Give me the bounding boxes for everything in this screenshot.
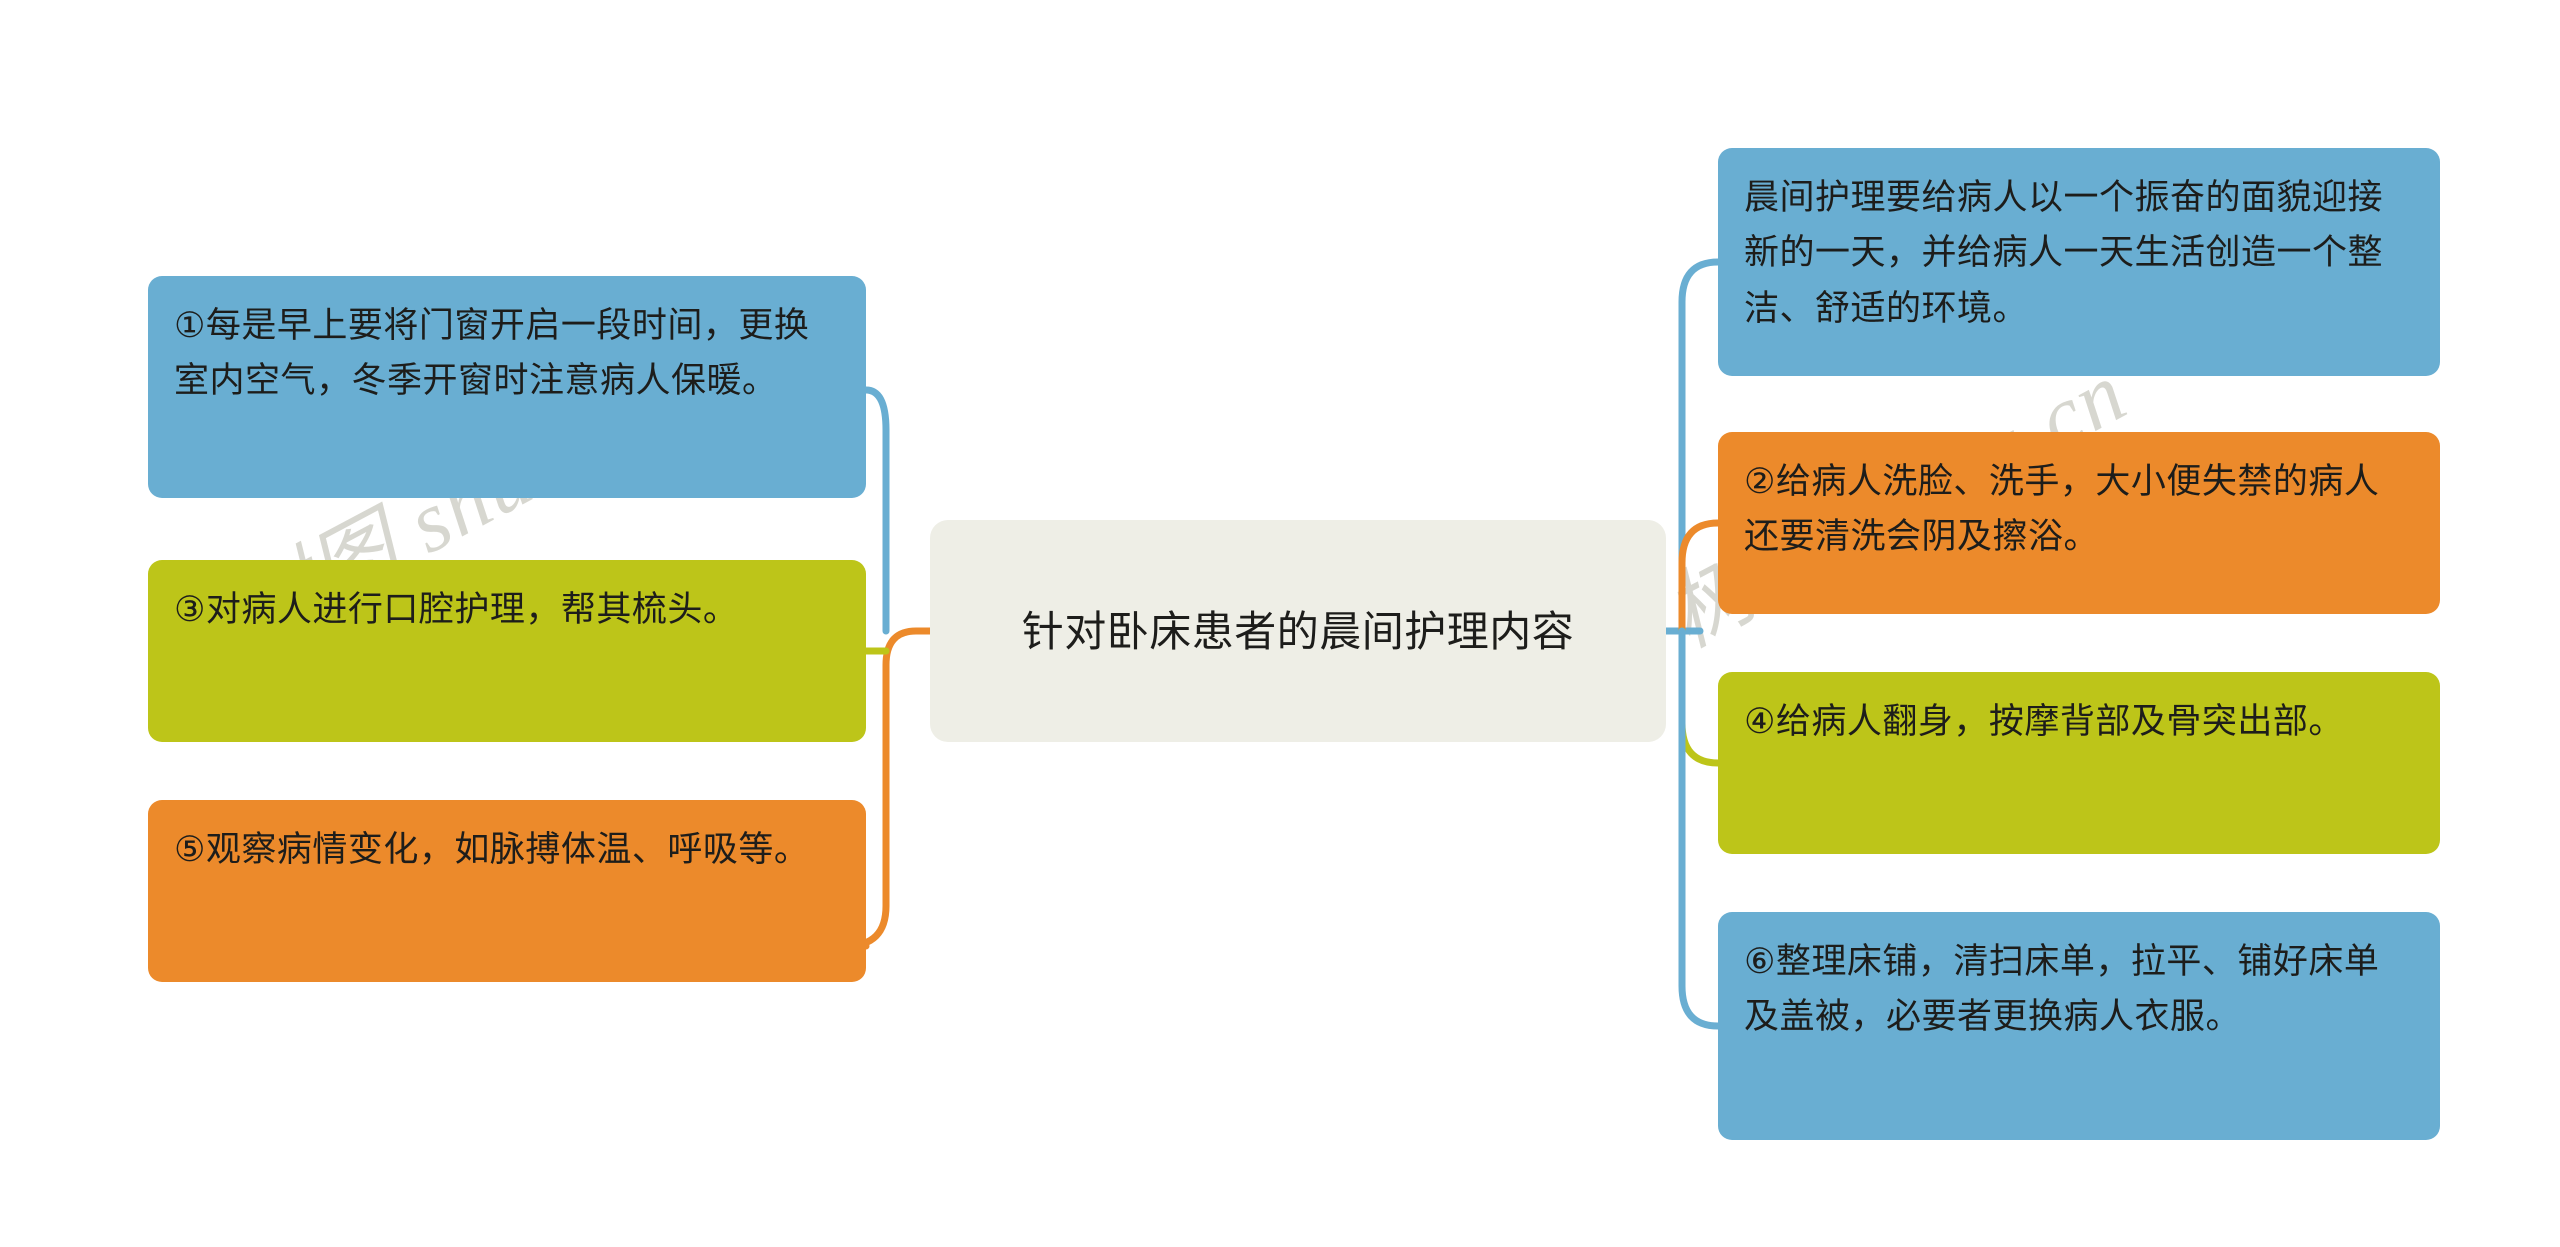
- link-right-2: [1682, 523, 1718, 631]
- mindmap-canvas: 树图 shutu.cn 树图 shutu.cn ①每是早上要将门窗开启一段时间，…: [0, 0, 2560, 1247]
- branch-node-right-6[interactable]: ⑥整理床铺，清扫床单，拉平、铺好床单及盖被，必要者更换病人衣服。: [1718, 912, 2440, 1140]
- link-right-4: [1682, 631, 1718, 763]
- branch-node-left-5[interactable]: ⑤观察病情变化，如脉搏体温、呼吸等。: [148, 800, 866, 982]
- branch-node-right-4[interactable]: ④给病人翻身，按摩背部及骨突出部。: [1718, 672, 2440, 854]
- link-right-6: [1682, 631, 1718, 1026]
- link-left-1: [866, 390, 886, 631]
- branch-node-left-1[interactable]: ①每是早上要将门窗开启一段时间，更换室内空气，冬季开窗时注意病人保暖。: [148, 276, 866, 498]
- branch-node-left-3[interactable]: ③对病人进行口腔护理，帮其梳头。: [148, 560, 866, 742]
- branch-node-right-0[interactable]: 晨间护理要给病人以一个振奋的面貌迎接新的一天，并给病人一天生活创造一个整洁、舒适…: [1718, 148, 2440, 376]
- link-right-0: [1682, 262, 1718, 631]
- root-node[interactable]: 针对卧床患者的晨间护理内容: [930, 520, 1666, 742]
- branch-node-right-2[interactable]: ②给病人洗脸、洗手，大小便失禁的病人还要清洗会阴及擦浴。: [1718, 432, 2440, 614]
